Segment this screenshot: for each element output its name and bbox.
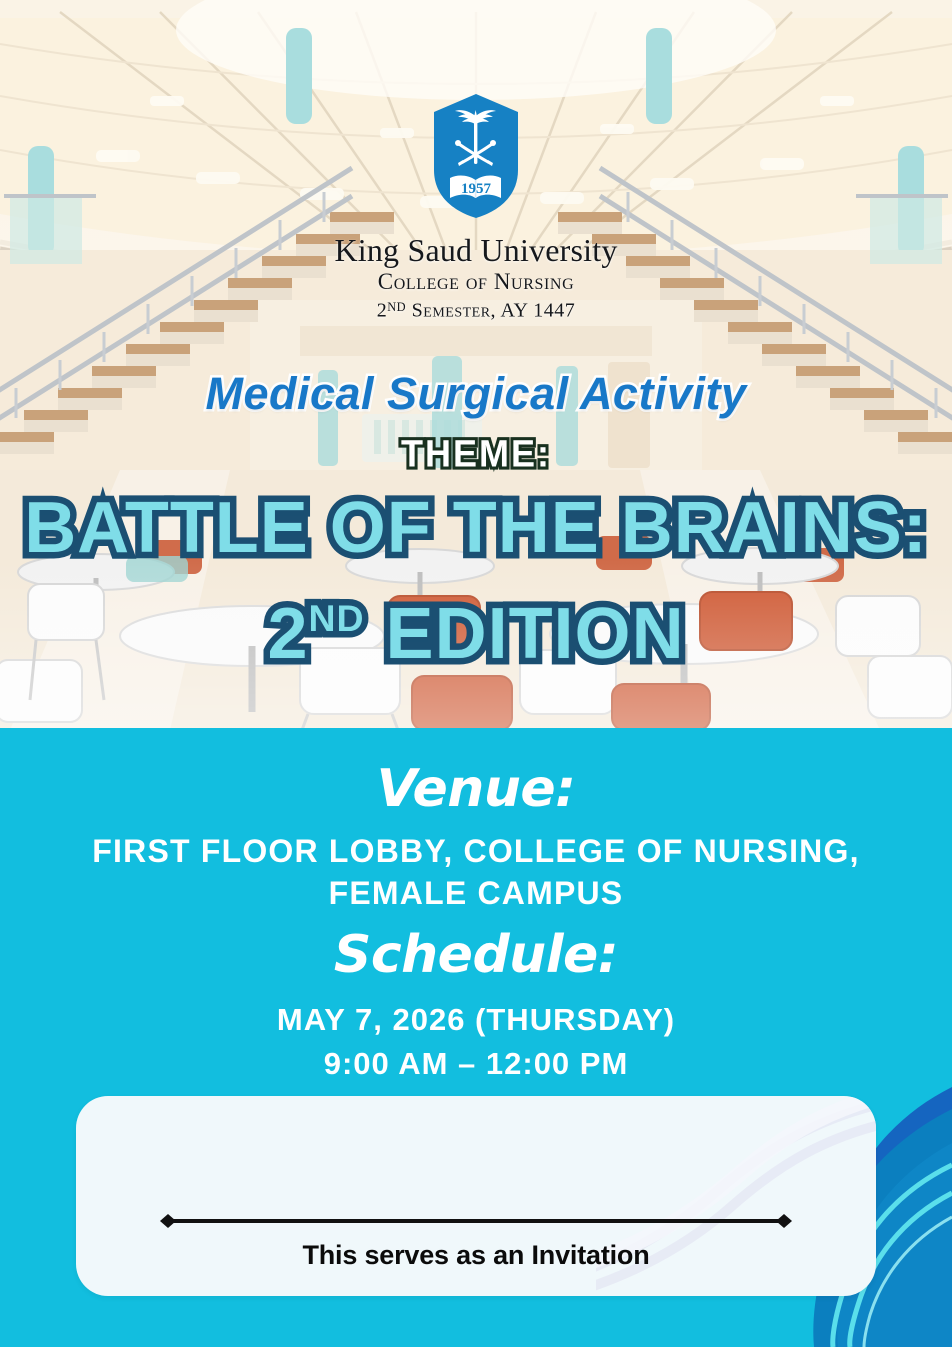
edition-word: EDITION [365,594,685,674]
venue-heading: Venue: [0,760,952,818]
event-poster: 1957 King Saud University College of Nur… [0,0,952,1347]
college-name: College of Nursing [0,268,952,295]
semester-line: 2ND Semester, AY 1447 [0,295,952,323]
diamond-end-divider [160,1214,792,1228]
schedule-heading: Schedule: [0,926,952,984]
logo-year-text: 1957 [461,181,492,197]
semester-suffix: Semester, AY 1447 [406,300,575,322]
semester-number: 2 [377,300,388,322]
invitation-text: This serves as an Invitation [76,1238,876,1272]
king-saud-university-shield-icon: 1957 [430,92,522,220]
edition-ordinal: ND [308,597,364,639]
activity-title: Medical Surgical Activity [0,368,952,420]
university-name: King Saud University [0,232,952,268]
theme-title-line1: BATTLE OF THE BRAINS: [0,488,952,568]
edition-number: 2 [267,594,308,674]
university-identity-block: King Saud University College of Nursing … [0,232,952,323]
invitation-card: This serves as an Invitation [76,1096,876,1296]
schedule-date: May 7, 2026 (Thursday) [0,998,952,1042]
theme-label: THEME: [0,431,952,477]
venue-line-1: First Floor Lobby, College of Nursing, [0,830,952,872]
logo-container: 1957 [0,92,952,220]
venue-line-2: Female Campus [0,872,952,914]
semester-ordinal: ND [387,300,406,314]
theme-title-line2: 2ND EDITION [0,578,952,674]
